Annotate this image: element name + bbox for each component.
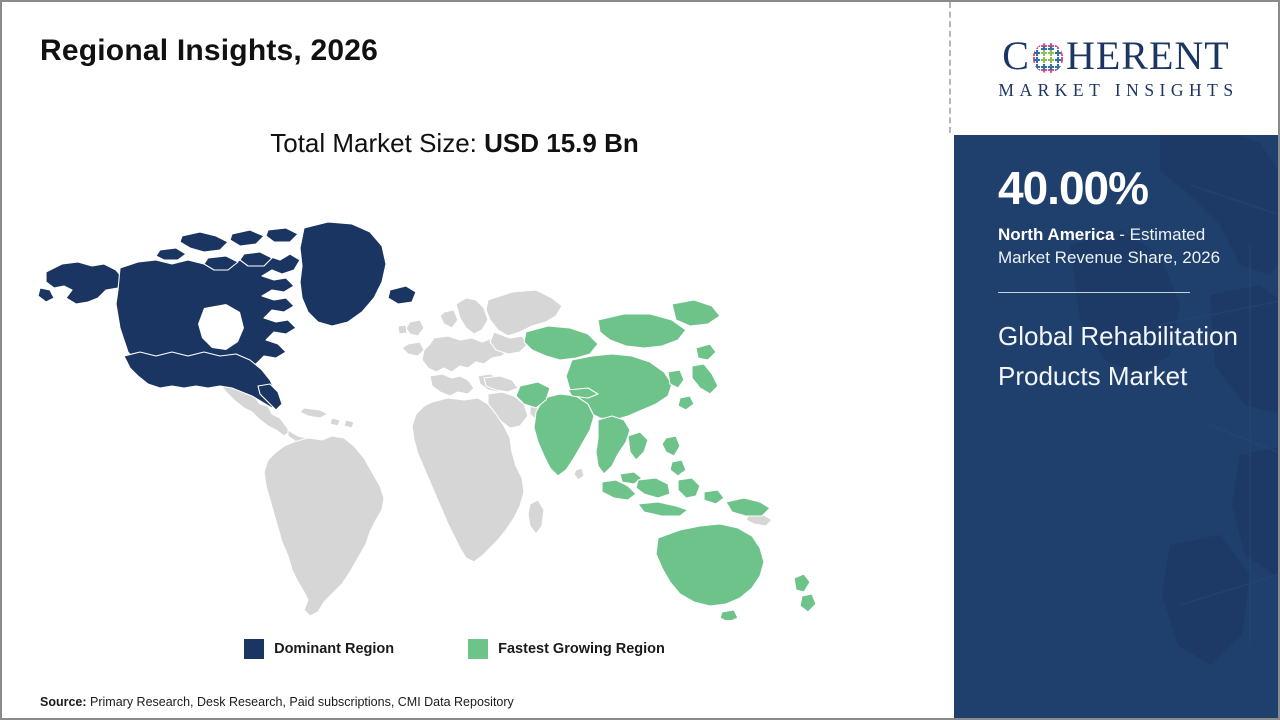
company-logo: C [954,4,1278,133]
legend-label-dominant: Dominant Region [274,641,394,657]
share-description: North America - Estimated Market Revenue… [998,223,1252,270]
vertical-divider [949,2,951,133]
source-label: Source: [40,695,87,709]
market-size-label: Total Market Size: [270,128,477,158]
world-map-svg [32,180,872,620]
legend-swatch-dominant [244,639,264,659]
page-title: Regional Insights, 2026 [40,34,378,68]
highlight-panel: 40.00% North America - Estimated Market … [954,135,1280,720]
legend-label-fastest-growing: Fastest Growing Region [498,641,665,657]
logo-letter-c: C [1002,36,1030,76]
panel-divider [998,292,1190,293]
logo-word-herent: HERENT [1066,36,1230,76]
logo-subtitle: MARKET INSIGHTS [993,80,1238,101]
logo-wordmark: C [1002,36,1229,76]
map-legend: Dominant Region Fastest Growing Region [2,639,907,659]
map-dominant-regions [38,222,416,410]
share-region-name: North America [998,225,1115,244]
source-text: Primary Research, Desk Research, Paid su… [87,695,514,709]
globe-icon [1031,41,1065,75]
share-percentage: 40.00% [998,165,1252,211]
market-name: Global Rehabilitation Products Market [998,317,1238,397]
source-note: Source: Primary Research, Desk Research,… [40,695,514,709]
legend-swatch-fastest-growing [468,639,488,659]
panel-content: 40.00% North America - Estimated Market … [954,135,1280,396]
infographic-page: Regional Insights, 2026 Total Market Siz… [0,0,1280,720]
map-fastest-growing-regions [516,300,816,620]
left-content-area: Regional Insights, 2026 Total Market Siz… [2,2,950,718]
legend-item-dominant: Dominant Region [244,639,394,659]
legend-item-fastest-growing: Fastest Growing Region [468,639,665,659]
total-market-size: Total Market Size: USD 15.9 Bn [2,128,907,159]
market-size-value: USD 15.9 Bn [484,128,639,158]
world-map [32,180,872,620]
